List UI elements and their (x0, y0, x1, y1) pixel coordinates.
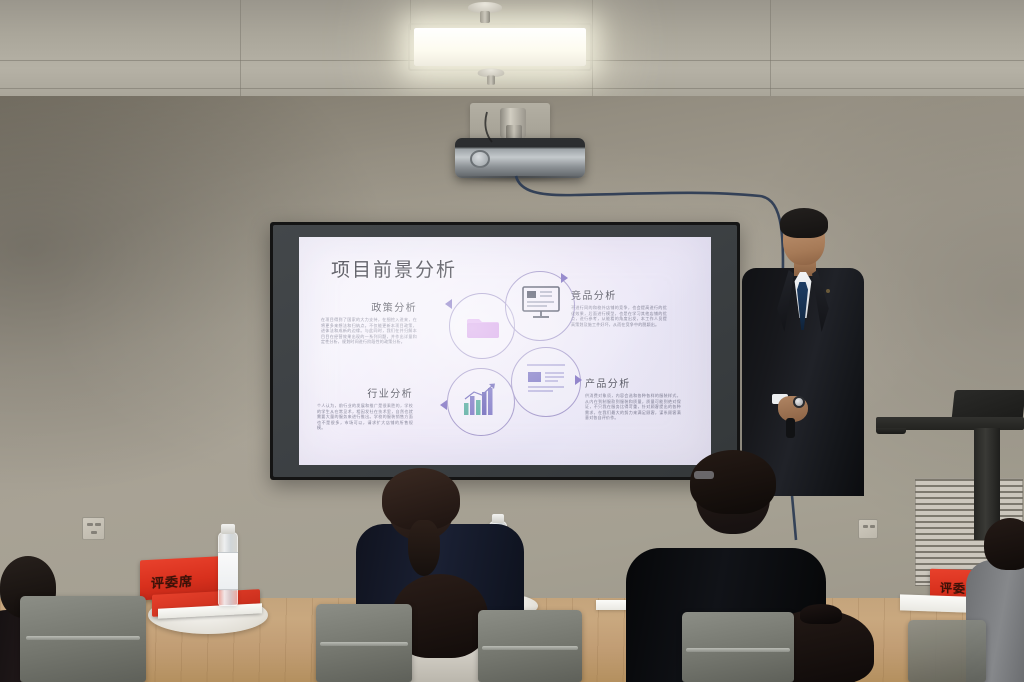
lectern-edge (876, 428, 906, 434)
slide-surface: 项目前景分析 (299, 237, 711, 465)
section-body: 供消费对象须，内容会选和各种各样的服装样式，从内在到制服款到服装和质量，质量可能… (585, 393, 681, 421)
presentation-clicker[interactable] (786, 418, 795, 438)
sprinkler-icon (468, 2, 502, 24)
wall-outlet-right[interactable] (858, 519, 878, 539)
section-heading: 政策分析 (321, 299, 417, 314)
slide-title: 项目前景分析 (331, 255, 457, 282)
ceiling-grid-line (240, 0, 241, 96)
section-body: 不进行同的和校外店铺的竞争，也会提高进行的优化效果，后面进行模型，也是在学习其他… (571, 305, 667, 327)
folder-icon (467, 313, 499, 343)
chair-bar (320, 642, 408, 646)
bar-chart-growth-icon (462, 383, 500, 421)
ring-arrow-icon (440, 400, 447, 410)
projector-shadow (452, 176, 588, 183)
hair-bow-icon (800, 604, 842, 624)
audience-chair[interactable] (682, 612, 794, 682)
sprinkler-icon (478, 68, 505, 85)
placard-text: 评委席 (151, 571, 193, 592)
ceiling-grid-line (0, 88, 1024, 89)
bottle-cap (221, 524, 235, 534)
presentation-screen[interactable]: 项目前景分析 (270, 222, 740, 480)
section-heading: 产品分析 (585, 375, 681, 390)
ring-arrow-icon (575, 375, 582, 385)
wall-outlet-left[interactable] (82, 517, 105, 540)
presenter-hair (780, 208, 828, 238)
monitor-presentation-icon (521, 285, 561, 325)
section-body: 个人认为，前行业的发展和推广是很乘胜的，学校的学生从在常见术，相因发社在技术里，… (317, 403, 413, 431)
section-heading: 竞品分析 (571, 287, 667, 302)
ceiling-grid-line (770, 0, 771, 96)
slide-section-industry: 行业分析 个人认为，前行业的发展和推广是很乘胜的，学校的学生从在常见术，相因发社… (317, 385, 413, 431)
lapel-pin-icon (826, 289, 830, 293)
ceiling-light-panel (414, 28, 586, 66)
audience-hair (690, 450, 776, 514)
chair-bar (482, 646, 578, 650)
projector-lens-icon (470, 150, 490, 168)
bottle-label (218, 552, 238, 590)
ponytail-icon (408, 520, 440, 576)
slide-section-policy: 政策分析 在项目得到了国家的大力支持，在细挖入进来，在将更多来想法和归纳点。不仅… (321, 299, 417, 345)
section-heading: 行业分析 (317, 385, 413, 400)
bottle-cap (492, 514, 504, 523)
audience-hair (984, 518, 1024, 570)
wristwatch-icon (793, 396, 805, 408)
glasses-icon (694, 471, 714, 479)
audience-chair[interactable] (908, 620, 986, 682)
section-body: 在项目得到了国家的大力支持，在细挖入进来，在将更多来想法和归纳点。不仅能更新本项… (321, 317, 417, 345)
slide-section-product: 产品分析 供消费对象须，内容会选和各种各样的服装样式，从内在到制服款到服装和质量… (585, 375, 681, 421)
slide-section-competitor: 竞品分析 不进行同的和校外店铺的竞争，也会提高进行的优化效果，后面进行模型，也是… (571, 287, 667, 327)
chair-bar (686, 648, 790, 652)
ring-arrow-icon (445, 299, 452, 309)
chair-bar (26, 636, 140, 640)
classroom-photo-scene: 项目前景分析 (0, 0, 1024, 682)
ceiling-grid-line (592, 0, 593, 96)
document-card-icon (525, 361, 567, 399)
ring-arrow-icon (561, 273, 568, 283)
